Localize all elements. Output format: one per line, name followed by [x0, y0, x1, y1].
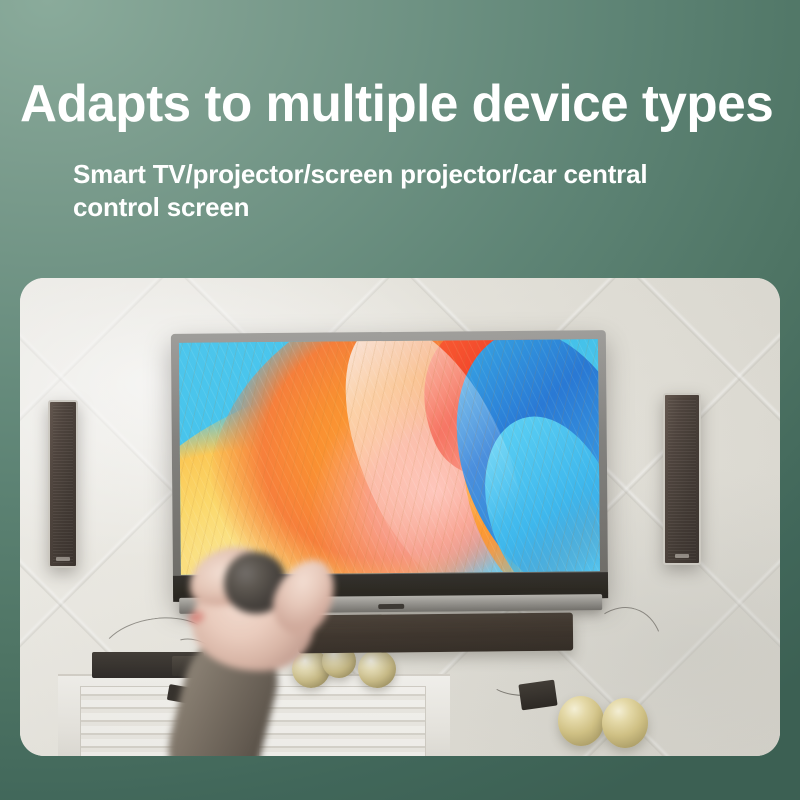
- speaker-grille: [668, 398, 696, 560]
- left-tower-speaker: [48, 400, 78, 568]
- speaker-badge: [675, 554, 689, 558]
- power-adapter: [518, 680, 557, 711]
- right-tower-speaker: [663, 393, 701, 565]
- product-photo-card: [20, 278, 780, 756]
- decorative-sphere: [358, 650, 396, 688]
- hand-with-remote: [168, 540, 358, 756]
- promo-page: Adapts to multiple device types Smart TV…: [0, 0, 800, 800]
- speaker-grille: [53, 405, 73, 563]
- speaker-badge: [56, 557, 70, 561]
- tv-ir-sensor: [378, 604, 404, 609]
- gold-ornament-sphere: [558, 696, 604, 746]
- page-subtitle: Smart TV/projector/screen projector/car …: [73, 158, 693, 224]
- page-title: Adapts to multiple device types: [20, 78, 788, 130]
- gold-ornament-sphere: [602, 698, 648, 748]
